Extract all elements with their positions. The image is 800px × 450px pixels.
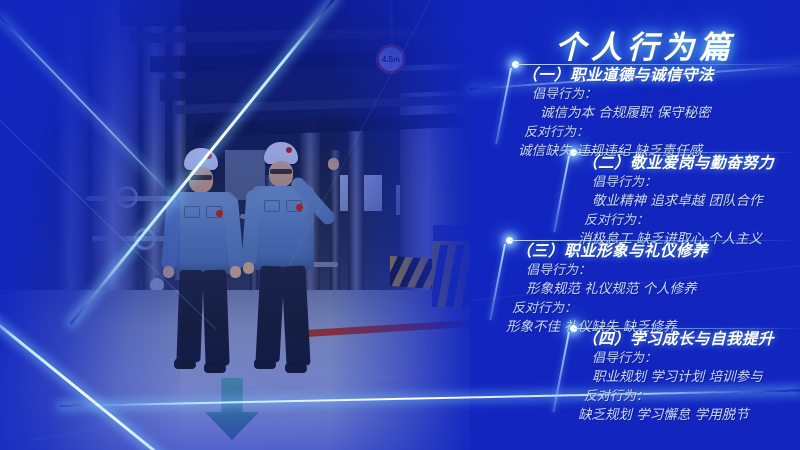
section-block-2[interactable]: （二）敬业爱岗与勤奋努力 倡导行为： 敬业精神 追求卓越 团队合作 反对行为： … <box>556 152 800 236</box>
oppose-label: 反对行为： <box>512 299 792 318</box>
section-body: 倡导行为： 职业规划 学习计划 培训参与 反对行为： 缺乏规划 学习懈怠 学用脱… <box>556 349 800 425</box>
promote-label: 倡导行为： <box>582 173 800 192</box>
page-title: 个人行为篇 <box>500 22 790 67</box>
section-top-rule <box>516 64 798 65</box>
section-block-4[interactable]: （四）学习成长与自我提升 倡导行为： 职业规划 学习计划 培训参与 反对行为： … <box>556 328 800 416</box>
promote-label: 倡导行为： <box>522 85 798 104</box>
oppose-label: 反对行为： <box>522 123 798 142</box>
industrial-plant-photo: 4.5m <box>0 0 470 450</box>
section-bracket-icon <box>556 152 582 236</box>
section-heading: （四）学习成长与自我提升 <box>556 330 800 349</box>
section-bracket-icon <box>498 64 524 148</box>
poster-canvas: 4.5m <box>0 0 800 450</box>
oppose-items: 缺乏规划 学习懈怠 学用脱节 <box>578 406 800 425</box>
section-top-rule <box>574 152 800 153</box>
promote-items: 敬业精神 追求卓越 团队合作 <box>582 192 800 211</box>
section-heading: （三）职业形象与礼仪修养 <box>492 242 792 261</box>
promote-items: 职业规划 学习计划 培训参与 <box>582 368 800 387</box>
section-top-rule <box>510 240 800 241</box>
promote-items: 形象规范 礼仪规范 个人修养 <box>516 280 792 299</box>
section-block-1[interactable]: （一）职业道德与诚信守法 倡导行为： 诚信为本 合规履职 保守秘密 反对行为： … <box>498 64 798 148</box>
section-body: 倡导行为： 诚信为本 合规履职 保守秘密 反对行为： 诚信缺失 违规违纪 缺乏责… <box>498 85 798 161</box>
section-bracket-icon <box>556 328 582 416</box>
promote-label: 倡导行为： <box>582 349 800 368</box>
bracket-slant-line <box>495 68 512 144</box>
section-block-3[interactable]: （三）职业形象与礼仪修养 倡导行为： 形象规范 礼仪规范 个人修养 反对行为： … <box>492 240 792 324</box>
section-top-rule <box>574 328 800 329</box>
promote-label: 倡导行为： <box>516 261 792 280</box>
section-body: 倡导行为： 敬业精神 追求卓越 团队合作 反对行为： 消极怠工 缺乏进取心 个人… <box>556 173 800 249</box>
section-heading: （一）职业道德与诚信守法 <box>498 66 798 85</box>
promote-items: 诚信为本 合规履职 保守秘密 <box>522 104 798 123</box>
oppose-label: 反对行为： <box>582 387 800 406</box>
bracket-slant-line <box>552 332 570 412</box>
section-heading: （二）敬业爱岗与勤奋努力 <box>556 154 800 173</box>
section-body: 倡导行为： 形象规范 礼仪规范 个人修养 反对行为： 形象不佳 礼仪缺失 缺乏修… <box>492 261 792 337</box>
bracket-slant-line <box>553 156 570 232</box>
section-bracket-icon <box>492 240 518 324</box>
oppose-label: 反对行为： <box>582 211 800 230</box>
bracket-slant-line <box>489 244 506 320</box>
